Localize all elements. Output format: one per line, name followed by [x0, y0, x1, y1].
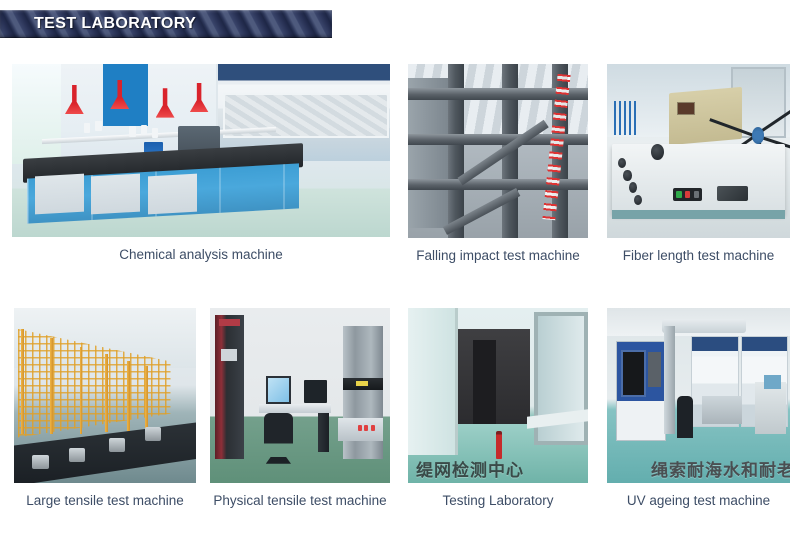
red-lamp-icon	[65, 85, 84, 114]
lab-window	[12, 64, 61, 164]
steel-crossbeam	[408, 179, 588, 190]
metal-plate	[717, 186, 748, 202]
section-header-banner: TEST LABORATORY	[0, 10, 332, 38]
computer-monitor	[266, 376, 291, 404]
computer-desk	[259, 404, 331, 413]
gallery-item-fiber-length-test-machine[interactable]: Fiber length test machine	[607, 64, 790, 266]
test-fixture	[109, 438, 125, 452]
cabinet-door	[35, 173, 84, 214]
caption-testing-laboratory: Testing Laboratory	[408, 483, 588, 511]
test-fixture	[69, 448, 85, 462]
cabinet-door	[91, 173, 140, 214]
adjust-knob	[651, 144, 664, 160]
left-glass-partition	[408, 308, 458, 455]
red-lamp-icon	[190, 83, 209, 112]
photo-physical-tensile-test-machine	[210, 308, 390, 483]
reagent-bottle	[152, 128, 158, 138]
lab-bench	[702, 396, 742, 424]
photo-testing-laboratory: 缇网检测中心	[408, 308, 588, 483]
caption-fiber-length-test-machine: Fiber length test machine	[607, 238, 790, 266]
test-fixture	[32, 455, 48, 469]
office-chair	[264, 413, 293, 462]
tower-side-wall	[408, 78, 448, 228]
caption-chemical-analysis-machine: Chemical analysis machine	[12, 237, 390, 265]
fence-post	[21, 329, 24, 434]
caption-large-tensile-test-machine: Large tensile test machine	[14, 483, 196, 511]
second-monitor	[304, 380, 327, 403]
gallery-item-chemical-analysis-machine[interactable]: Chemical analysis machine	[12, 64, 390, 265]
photo-falling-impact-test-machine	[408, 64, 588, 238]
photo-overlay-text-cn: 缇网检测中心	[416, 456, 524, 481]
doorway	[473, 340, 496, 424]
uv-ageing-chamber	[616, 341, 666, 441]
reagent-bottle	[129, 126, 135, 136]
yellow-label	[356, 381, 369, 386]
indicator-lights	[358, 425, 376, 430]
office-chair	[677, 396, 693, 438]
adjust-knob	[629, 182, 637, 192]
reagent-bottle	[84, 123, 90, 133]
vertical-duct-column	[664, 326, 675, 435]
red-button[interactable]	[685, 191, 690, 197]
fence-post	[127, 361, 130, 431]
caption-falling-impact-test-machine: Falling impact test machine	[408, 238, 588, 266]
photo-uv-ageing-test-machine: 绳索耐海水和耐老化试	[607, 308, 790, 483]
digital-display	[677, 102, 695, 114]
caption-physical-tensile-test-machine: Physical tensile test machine	[210, 483, 390, 511]
chamber-control-panel	[648, 352, 661, 387]
equipment-screen	[764, 375, 780, 389]
side-equipment	[755, 382, 786, 435]
blue-wall-panel	[103, 64, 148, 126]
fence-post	[80, 347, 83, 435]
fence-post	[145, 366, 148, 429]
control-panel	[673, 188, 702, 202]
gallery-item-falling-impact-test-machine[interactable]: Falling impact test machine	[408, 64, 588, 266]
fence-post	[50, 338, 53, 434]
fence-post	[105, 354, 108, 433]
adjust-knob	[623, 170, 631, 180]
table-edge	[612, 210, 784, 219]
cabinet-door	[148, 173, 197, 214]
tensile-machine-left	[215, 315, 244, 459]
gallery-item-testing-laboratory[interactable]: 缇网检测中心 Testing Laboratory	[408, 308, 588, 511]
computer-tower	[318, 413, 329, 452]
fire-extinguisher	[496, 431, 502, 459]
gallery-item-large-tensile-test-machine[interactable]: Large tensile test machine	[14, 308, 196, 511]
gallery-item-physical-tensile-test-machine[interactable]: Physical tensile test machine	[210, 308, 390, 511]
reagent-bottle	[95, 121, 101, 131]
reagent-bottle	[141, 125, 147, 135]
gallery-item-uv-ageing-test-machine[interactable]: 绳索耐海水和耐老化试 UV ageing test machine	[607, 308, 790, 511]
photo-overlay-text-cn: 绳索耐海水和耐老化试	[651, 456, 790, 481]
test-fixture	[145, 427, 161, 441]
green-button[interactable]	[676, 191, 681, 197]
page-title: TEST LABORATORY	[34, 15, 196, 33]
photo-large-tensile-test-machine	[14, 308, 196, 483]
blue-guide-rods	[614, 101, 638, 136]
red-lamp-icon	[156, 88, 175, 117]
photo-chemical-analysis-machine	[12, 64, 390, 237]
chamber-door-window	[621, 350, 646, 397]
photo-fiber-length-test-machine	[607, 64, 790, 238]
grey-button[interactable]	[694, 191, 699, 197]
caption-uv-ageing-test-machine: UV ageing test machine	[607, 483, 790, 511]
